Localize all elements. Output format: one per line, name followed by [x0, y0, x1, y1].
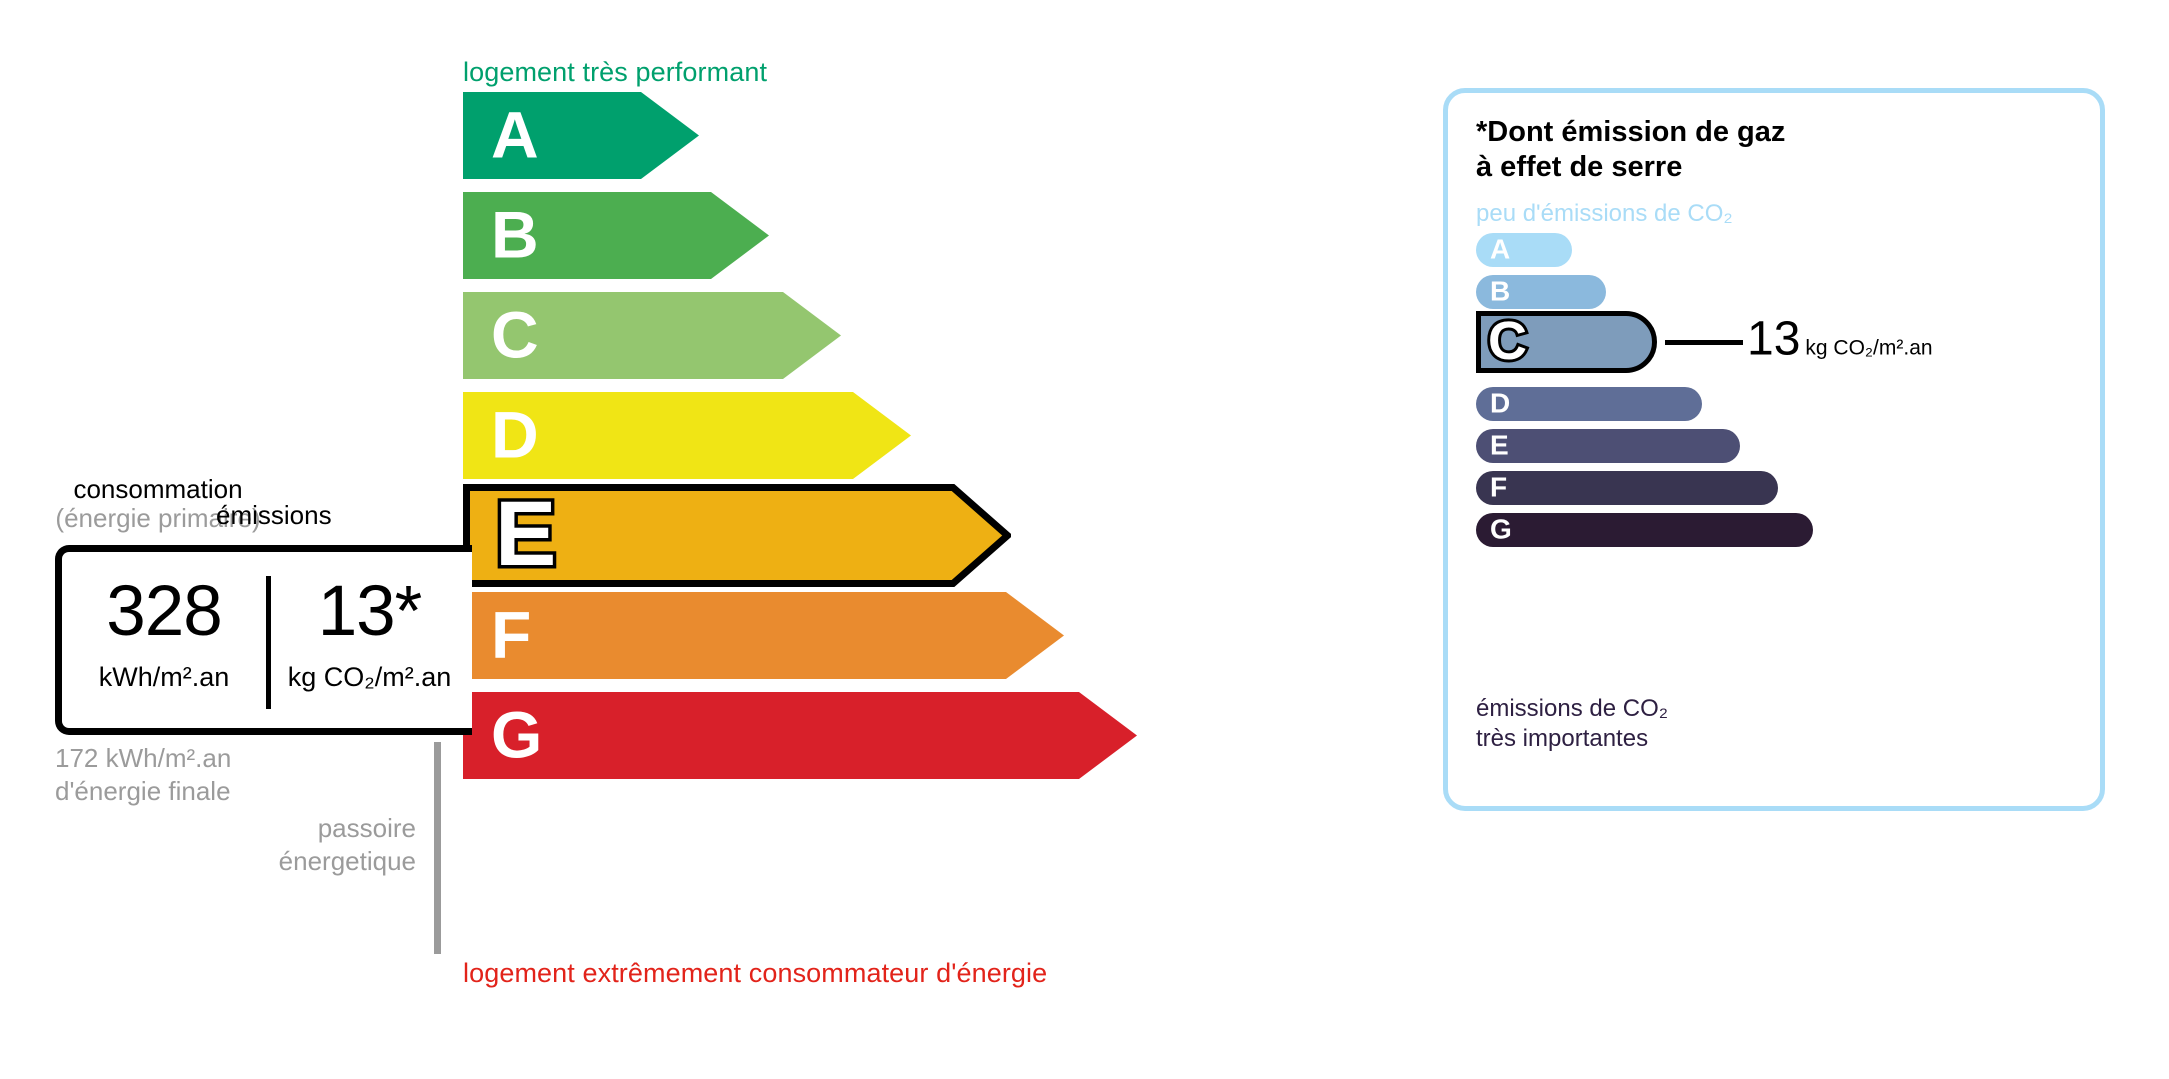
co2-top-caption: peu d'émissions de CO₂ [1476, 200, 1733, 228]
co2-reading-unit: kg CO₂/m².an [1805, 337, 1932, 360]
arrow-shape-f [463, 592, 1064, 679]
co2-value: 13* [267, 576, 472, 647]
energy-grade-arrow-a: A [463, 92, 699, 179]
energy-grade-letter-f: F [491, 601, 531, 667]
co2-grade-bar-d: D [1476, 387, 1942, 421]
energy-grade-arrow-e: E [463, 484, 1011, 587]
energy-unit: kWh/m².an [62, 664, 266, 691]
co2-bottom-caption: émissions de CO₂ très importantes [1476, 694, 1896, 754]
passoire-bracket-bar [434, 742, 441, 954]
co2-panel-title: *Dont émission de gaz à effet de serre [1476, 115, 1876, 185]
dpe-label: logement très performant ABCDEFG consomm… [0, 0, 2169, 1079]
co2-bar-shape-e [1476, 429, 1740, 463]
scale-top-caption: logement très performant [463, 57, 767, 88]
co2-reading-number: 13 [1747, 313, 1800, 366]
co2-unit: kg CO₂/m².an [267, 664, 472, 691]
energy-grade-arrow-b: B [463, 192, 769, 279]
scale-bottom-caption: logement extrêmement consommateur d'éner… [463, 958, 1047, 989]
co2-grade-letter-f: F [1490, 473, 1507, 501]
co2-grade-letter-d: D [1490, 389, 1510, 417]
final-energy-label: 172 kWh/m².an d'énergie finale [55, 742, 385, 808]
co2-bottom-line-2: très importantes [1476, 724, 1896, 754]
co2-grade-bar-a: A [1476, 233, 1812, 267]
emissions-label: émissions [216, 501, 416, 530]
co2-grade-bar-g: G [1476, 513, 2053, 547]
energy-grade-arrow-g: G [463, 692, 1137, 779]
final-energy-line-1: 172 kWh/m².an [55, 742, 385, 775]
energy-grade-letter-a: A [491, 101, 539, 167]
greenhouse-gas-panel: *Dont émission de gaz à effet de serre p… [1443, 88, 2105, 811]
energy-grade-letter-g: G [491, 701, 542, 767]
energy-grade-arrow-f: F [463, 592, 1064, 679]
passoire-line-1: passoire [130, 812, 416, 845]
energy-grade-arrow-c: C [463, 292, 841, 379]
co2-grade-letter-b: B [1490, 277, 1510, 305]
co2-reading-value: 13kg CO₂/m².an [1747, 316, 1933, 364]
co2-grade-letter-c: C [1488, 314, 1527, 368]
energy-performance-scale: logement très performant ABCDEFG consomm… [0, 0, 1240, 1079]
energy-value-cell: 328 kWh/m².an [62, 552, 266, 728]
measurement-value-box: 328 kWh/m².an 13* kg CO₂/m².an [55, 545, 472, 735]
energy-grade-letter-e: E [495, 488, 556, 580]
co2-grade-letter-a: A [1490, 235, 1510, 263]
energy-value: 328 [62, 576, 266, 647]
co2-title-line-1: *Dont émission de gaz [1476, 115, 1876, 150]
co2-bar-shape-g [1476, 513, 1813, 547]
arrow-shape-g [463, 692, 1137, 779]
co2-grade-letter-g: G [1490, 515, 1512, 543]
co2-grade-bar-c: C13kg CO₂/m².an [1476, 311, 1891, 373]
co2-grade-bar-b: B [1476, 275, 1846, 309]
co2-grade-letter-e: E [1490, 431, 1509, 459]
passoire-energetique-label: passoire énergetique [130, 812, 416, 878]
co2-grade-bar-e: E [1476, 429, 1980, 463]
co2-bottom-line-1: émissions de CO₂ [1476, 694, 1896, 724]
co2-leader-line [1665, 340, 1743, 345]
co2-value-cell: 13* kg CO₂/m².an [267, 552, 472, 728]
energy-grade-letter-b: B [491, 201, 539, 267]
co2-title-line-2: à effet de serre [1476, 150, 1876, 185]
energy-grade-arrow-d: D [463, 392, 911, 479]
co2-bar-shape-f [1476, 471, 1778, 505]
energy-grade-letter-d: D [491, 401, 539, 467]
co2-grade-bar-f: F [1476, 471, 2018, 505]
energy-grade-letter-c: C [491, 301, 539, 367]
passoire-line-2: énergetique [130, 845, 416, 878]
final-energy-line-2: d'énergie finale [55, 775, 385, 808]
